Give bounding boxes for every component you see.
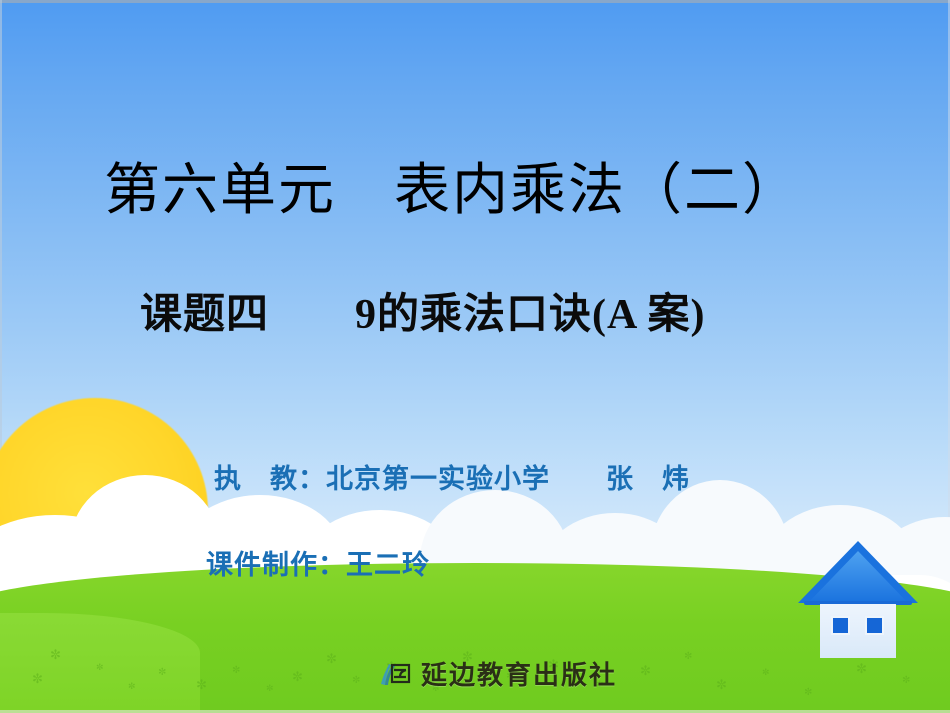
house-icon — [798, 541, 918, 658]
page-title: 第六单元 表内乘法（二） — [104, 158, 800, 222]
house-wall — [820, 604, 896, 658]
presentation-slide: ✼ ✼ ✼ ✼ ✼ ✼ ✼ ✼ ✼ ✼ ✼ ✼ ✼ ✼ ✼ ✼ ✼ ✼ ✼ ✼ … — [0, 0, 950, 713]
yb-publisher-logo-icon — [378, 658, 412, 690]
credit-line-courseware-author: 课件制作：王二玲 — [206, 549, 430, 581]
house-window-left — [831, 616, 850, 635]
house-window-right — [865, 616, 884, 635]
publisher-name: 延边教育出版社 — [421, 655, 617, 692]
slide-top-border — [0, 0, 950, 3]
page-subtitle: 课题四 9的乘法口诀(A 案) — [140, 290, 706, 340]
publisher-watermark: 延边教育出版社 — [378, 655, 617, 692]
credit-line-instructor: 执 教：北京第一实验小学 张 炜 — [214, 463, 690, 495]
